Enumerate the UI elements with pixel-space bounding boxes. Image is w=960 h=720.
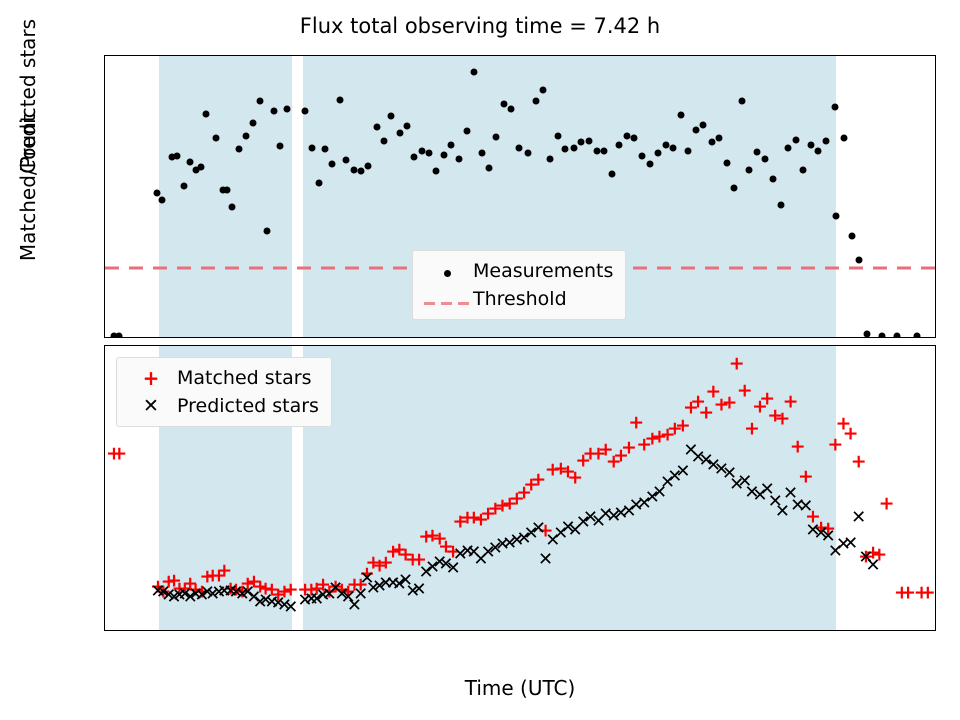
data-point-measurement: [547, 155, 554, 162]
data-point-measurement: [571, 144, 578, 151]
dashed-line-icon: [421, 290, 473, 309]
data-point-measurement: [746, 166, 753, 173]
data-point-measurement: [792, 136, 799, 143]
data-point-matched-star: +: [827, 435, 843, 454]
data-point-matched-star: +: [729, 354, 745, 373]
data-point-measurement: [631, 135, 638, 142]
chart-title: Flux total observing time = 7.42 h: [0, 14, 960, 38]
data-point-measurement: [381, 137, 388, 144]
data-point-measurement: [731, 184, 738, 191]
data-point-measurement: [418, 147, 425, 154]
data-point-measurement: [321, 146, 328, 153]
data-point-matched-star: +: [798, 467, 814, 486]
data-point-measurement: [769, 176, 776, 183]
data-point-matched-star: +: [698, 404, 714, 423]
data-point-measurement: [524, 150, 531, 157]
data-point-predicted-star: ✕: [798, 498, 813, 516]
data-point-measurement: [608, 170, 615, 177]
data-point-measurement: [894, 332, 901, 338]
data-point-measurement: [364, 162, 371, 169]
data-point-measurement: [555, 132, 562, 139]
data-point-predicted-star: ✕: [538, 551, 553, 569]
data-point-measurement: [654, 150, 661, 157]
data-point-measurement: [425, 150, 432, 157]
data-point-predicted-star: ✕: [843, 535, 858, 553]
legend-item-matched-stars[interactable]: + Matched stars: [125, 364, 319, 392]
x-tick-label: 16:00: [690, 630, 745, 631]
data-point-matched-star: +: [843, 424, 859, 443]
data-point-measurement: [833, 213, 840, 220]
data-point-measurement: [250, 120, 257, 127]
data-point-measurement: [404, 122, 411, 129]
data-point-measurement: [373, 124, 380, 131]
data-point-measurement: [532, 98, 539, 105]
data-point-measurement: [777, 202, 784, 209]
data-point-measurement: [276, 143, 283, 150]
x-axis-label: Time (UTC): [104, 676, 936, 700]
data-point-measurement: [224, 187, 231, 194]
data-point-measurement: [863, 331, 870, 338]
data-point-matched-star: +: [675, 416, 691, 435]
plus-marker-icon: +: [125, 366, 177, 390]
data-point-predicted-star: ✕: [531, 520, 546, 538]
data-point-measurement: [180, 183, 187, 190]
data-point-measurement: [848, 232, 855, 239]
y-tick-label: 0.0: [104, 326, 105, 338]
x-tick-label: 14:00: [511, 630, 566, 631]
data-point-matched-star: +: [774, 410, 790, 429]
data-point-measurement: [235, 146, 242, 153]
data-point-measurement: [669, 144, 676, 151]
data-point-measurement: [456, 155, 463, 162]
data-point-measurement: [693, 127, 700, 134]
data-point-measurement: [397, 129, 404, 136]
x-marker-icon: ✕: [125, 395, 177, 417]
data-point-measurement: [433, 168, 440, 175]
figure-container: Flux total observing time = 7.42 h Match…: [0, 0, 960, 720]
data-point-measurement: [357, 168, 364, 175]
data-point-measurement: [639, 153, 646, 160]
data-point-matched-star: +: [628, 413, 644, 432]
data-point-measurement: [662, 142, 669, 149]
data-point-matched-star: +: [783, 392, 799, 411]
data-point-measurement: [708, 139, 715, 146]
point-marker-icon: [421, 262, 473, 281]
data-point-measurement: [624, 132, 631, 139]
data-point-matched-star: +: [851, 453, 867, 472]
y-tick-label: 1.5: [104, 120, 105, 142]
data-point-measurement: [302, 107, 309, 114]
data-point-measurement: [578, 139, 585, 146]
data-point-matched-star: +: [567, 469, 583, 488]
data-point-measurement: [173, 153, 180, 160]
data-point-matched-star: +: [737, 381, 753, 400]
legend-counts[interactable]: + Matched stars ✕ Predicted stars: [116, 357, 332, 427]
data-point-measurement: [486, 165, 493, 172]
x-tick-label: 11:00: [242, 630, 297, 631]
data-point-measurement: [616, 142, 623, 149]
data-point-measurement: [646, 161, 653, 168]
data-point-measurement: [410, 154, 417, 161]
y-tick-label: 50: [104, 539, 105, 561]
data-point-measurement: [600, 147, 607, 154]
data-point-measurement: [187, 158, 194, 165]
data-point-predicted-star: ✕: [866, 557, 881, 575]
data-point-measurement: [116, 332, 123, 338]
data-point-measurement: [242, 132, 249, 139]
data-point-measurement: [914, 332, 921, 338]
data-point-measurement: [329, 161, 336, 168]
data-point-measurement: [159, 196, 166, 203]
data-point-measurement: [463, 128, 470, 135]
data-point-measurement: [585, 137, 592, 144]
x-tick-label: 10:00: [152, 630, 207, 631]
data-point-measurement: [309, 144, 316, 151]
data-point-measurement: [515, 144, 522, 151]
legend-label-measurements: Measurements: [473, 260, 613, 282]
data-point-measurement: [441, 151, 448, 158]
data-point-measurement: [539, 87, 546, 94]
data-point-measurement: [263, 228, 270, 235]
data-point-measurement: [754, 148, 761, 155]
data-point-matched-star: +: [111, 445, 127, 464]
data-point-measurement: [257, 98, 264, 105]
x-tick-label: 18:00: [870, 630, 925, 631]
data-point-measurement: [808, 142, 815, 149]
data-point-measurement: [700, 121, 707, 128]
data-point-predicted-star: ✕: [412, 581, 427, 599]
data-point-measurement: [470, 69, 477, 76]
data-point-measurement: [723, 159, 730, 166]
data-point-predicted-star: ✕: [775, 503, 790, 521]
data-point-measurement: [784, 144, 791, 151]
x-tick-label: 17:00: [780, 630, 835, 631]
data-point-matched-star: +: [879, 494, 895, 513]
legend-label-predicted-stars: Predicted stars: [177, 395, 319, 417]
data-point-measurement: [448, 142, 455, 149]
data-point-measurement: [562, 146, 569, 153]
data-point-measurement: [284, 106, 291, 113]
data-point-measurement: [213, 135, 220, 142]
data-point-measurement: [593, 147, 600, 154]
data-point-measurement: [855, 257, 862, 264]
data-point-measurement: [831, 103, 838, 110]
data-point-matched-star: +: [744, 419, 760, 438]
legend-item-predicted-stars[interactable]: ✕ Predicted stars: [125, 392, 319, 420]
y-tick-label: 1.0: [104, 189, 105, 211]
data-point-measurement: [815, 147, 822, 154]
data-point-measurement: [350, 166, 357, 173]
x-tick-label: 15:00: [601, 630, 656, 631]
y-tick-label: 150: [104, 380, 105, 402]
data-point-matched-star: +: [920, 584, 936, 603]
legend-label-matched-stars: Matched stars: [177, 367, 311, 389]
data-point-measurement: [343, 157, 350, 164]
data-point-measurement: [270, 107, 277, 114]
data-point-measurement: [501, 100, 508, 107]
data-point-measurement: [478, 150, 485, 157]
data-point-measurement: [203, 110, 210, 117]
data-point-measurement: [761, 155, 768, 162]
data-point-matched-star: +: [621, 439, 637, 458]
data-point-measurement: [739, 98, 746, 105]
data-point-measurement: [493, 133, 500, 140]
data-point-measurement: [800, 166, 807, 173]
data-point-measurement: [154, 190, 161, 197]
legend-item-threshold[interactable]: Threshold: [421, 285, 613, 313]
data-point-predicted-star: ✕: [675, 463, 690, 481]
data-point-measurement: [228, 203, 235, 210]
data-point-predicted-star: ✕: [283, 599, 298, 617]
data-point-measurement: [685, 147, 692, 154]
data-point-measurement: [879, 332, 886, 338]
x-tick-label: 13:00: [421, 630, 476, 631]
legend-ratio[interactable]: Measurements Threshold: [412, 250, 626, 320]
data-point-measurement: [823, 137, 830, 144]
data-point-matched-star: +: [790, 437, 806, 456]
x-tick-label: 12:00: [332, 630, 387, 631]
legend-item-measurements[interactable]: Measurements: [421, 257, 613, 285]
data-point-measurement: [316, 180, 323, 187]
data-point-measurement: [678, 111, 685, 118]
legend-label-threshold: Threshold: [473, 288, 567, 310]
data-point-predicted-star: ✕: [851, 509, 866, 527]
data-point-matched-star: +: [722, 394, 738, 413]
data-point-measurement: [337, 96, 344, 103]
y-tick-label: 2.0: [104, 55, 105, 74]
data-point-measurement: [841, 135, 848, 142]
data-point-measurement: [715, 135, 722, 142]
y-axis-label-bottom: Count: [16, 4, 40, 284]
y-tick-label: 100: [104, 459, 105, 481]
data-point-measurement: [508, 106, 515, 113]
data-point-measurement: [198, 164, 205, 171]
data-point-measurement: [388, 113, 395, 120]
shaded-observation-span: [159, 56, 292, 337]
